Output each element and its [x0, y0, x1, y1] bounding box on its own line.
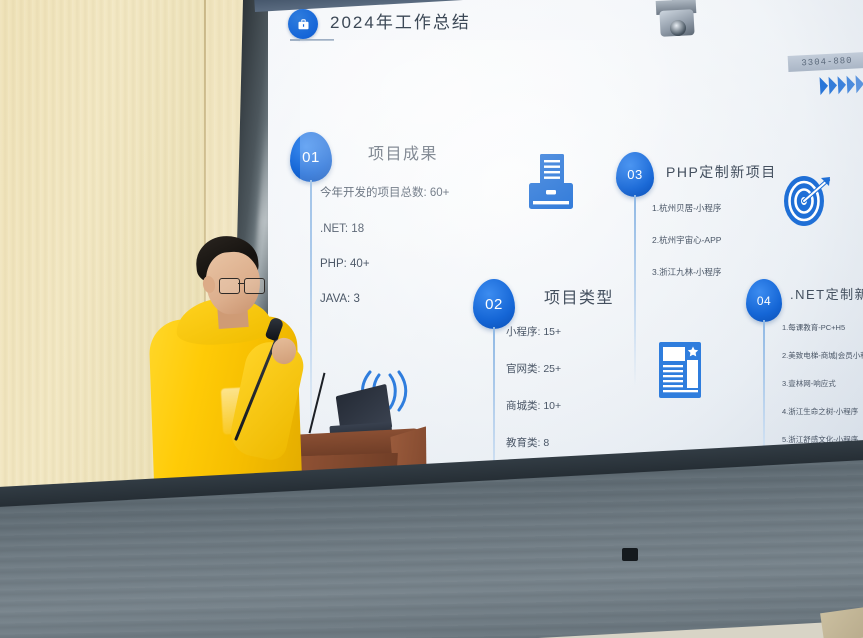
block-list-04: 1.每课教育-PC+H5 2.美致电梯-商城|会员小程序 3.壹林网-响应式 4…	[782, 322, 863, 445]
corner-label: 3304-880	[788, 52, 863, 72]
block-title-01: 项目成果	[368, 140, 438, 164]
pin-number-04: 04	[757, 294, 771, 308]
pin-stem-01	[310, 180, 312, 448]
pin-number-03: 03	[627, 167, 642, 182]
list-item: 2.杭州宇宙心-APP	[652, 234, 721, 246]
conference-presentation-photo: 2024年工作总结 3304-880 01 项目成果 今年开发的项目总数: 60…	[0, 0, 863, 638]
pin-stem-03	[634, 195, 636, 387]
list-item: 小程序: 15+	[506, 324, 561, 339]
list-item: 今年开发的项目总数: 60+	[320, 184, 449, 200]
pin-number-02: 02	[485, 296, 503, 313]
title-underline	[290, 39, 334, 41]
list-item: 4.浙江生命之树-小程序	[782, 406, 863, 417]
list-item: 2.美致电梯-商城|会员小程序	[782, 350, 863, 361]
article-star-icon	[656, 340, 704, 405]
document-print-icon	[525, 152, 577, 219]
list-item: JAVA: 3	[320, 293, 449, 305]
list-item: 3.浙江九林-小程序	[652, 266, 721, 278]
list-item: 官网类: 25+	[506, 361, 561, 376]
pin-number-01: 01	[302, 149, 320, 166]
list-item: 教育类: 8	[506, 435, 561, 450]
list-item: 1.杭州贝居-小程序	[652, 202, 721, 214]
glasses-icon	[219, 278, 265, 292]
target-arrow-icon	[778, 170, 836, 237]
list-item: 1.每课教育-PC+H5	[782, 322, 863, 333]
floor-outlet	[622, 548, 638, 561]
block-title-03: PHP定制新项目	[666, 162, 777, 182]
floor-corner-object	[820, 607, 863, 638]
page-title: 2024年工作总结	[330, 8, 471, 40]
briefcase-icon	[288, 9, 318, 39]
block-title-04: .NET定制新项目	[790, 284, 863, 303]
list-item: 3.壹林网-响应式	[782, 378, 863, 389]
slide-header: 2024年工作总结	[288, 8, 471, 40]
block-title-02: 项目类型	[544, 284, 614, 308]
list-item: PHP: 40+	[320, 258, 449, 270]
pin-marker-01: 01	[290, 132, 332, 182]
pin-marker-04: 04	[746, 279, 782, 322]
list-item: .NET: 18	[320, 223, 449, 235]
list-item: 商城类: 10+	[506, 398, 561, 413]
double-chevron-right-icon	[820, 75, 863, 95]
block-list-03: 1.杭州贝居-小程序 2.杭州宇宙心-APP 3.浙江九林-小程序	[652, 202, 721, 278]
pin-marker-02: 02	[473, 279, 515, 329]
block-list-01: 今年开发的项目总数: 60+ .NET: 18 PHP: 40+ JAVA: 3	[320, 184, 449, 305]
pin-marker-03: 03	[616, 152, 654, 197]
